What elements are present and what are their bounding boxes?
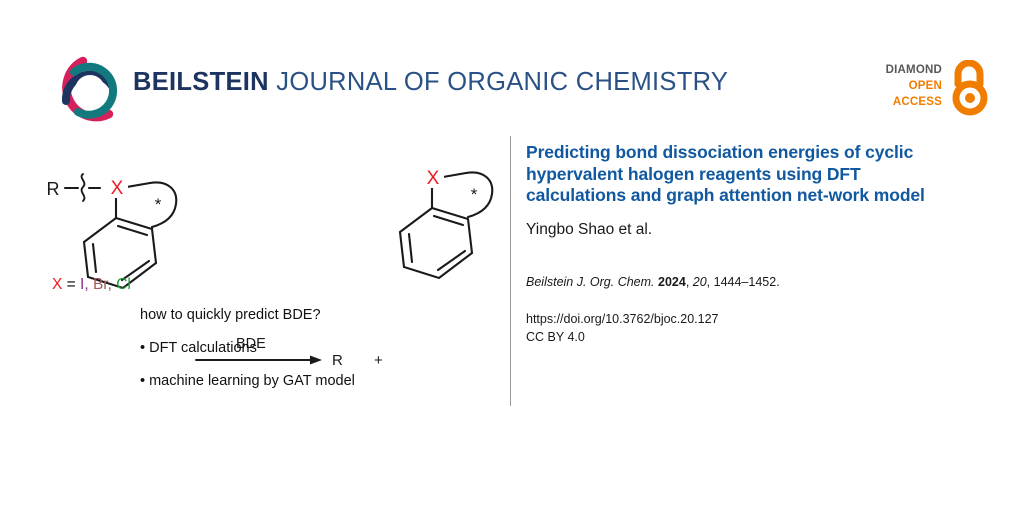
panel-divider [510,136,511,406]
notes-bullet-dft: • DFT calculations [140,341,480,357]
article-citation: Beilstein J. Org. Chem. 2024, 20, 1444–1… [526,275,956,290]
article-doi-link[interactable]: https://doi.org/10.3762/bjoc.20.127 [526,310,956,328]
article-license: CC BY 4.0 [526,328,956,346]
legend-bromine: Br [93,276,108,293]
article-title: Predicting bond dissociation energies of… [526,142,956,207]
article-info-panel: Predicting bond dissociation energies of… [526,142,956,346]
reactant-radical-asterisk: * [155,195,162,214]
legend-x-symbol: X [52,276,62,293]
citation-year: 2024 [658,275,686,289]
citation-volume: 20 [693,275,707,289]
legend-equals: = [62,276,80,293]
citation-comma-2: , [707,275,714,289]
legend-chlorine: Cl [116,276,131,293]
article-authors: Yingbo Shao et al. [526,221,956,240]
open-access-lock-icon [950,60,990,116]
open-access-diamond-label: DIAMOND [866,62,942,78]
legend-sep-1: , [84,276,93,293]
notes-bullet-ml: • machine learning by GAT model [140,374,480,390]
product-x-atom-label: X [427,168,440,189]
journal-title: BEILSTEIN JOURNAL OF ORGANIC CHEMISTRY [133,70,728,96]
article-doi-block: https://doi.org/10.3762/bjoc.20.127 CC B… [526,310,956,346]
citation-journal: Beilstein J. Org. Chem. [526,275,655,289]
notes-question: how to quickly predict BDE? [140,308,480,324]
journal-title-bold: BEILSTEIN [133,68,269,96]
open-access-access-label: ACCESS [866,94,942,110]
open-access-open-label: OPEN [866,78,942,94]
beilstein-swirl-logo-icon [52,52,128,128]
halogen-legend: X = I, Br, Cl [52,277,131,293]
citation-comma-1: , [686,275,693,289]
reactant-r-label: R [47,179,60,199]
open-access-labels: DIAMOND OPEN ACCESS [866,62,942,110]
product-radical-asterisk: * [471,185,478,204]
citation-pages: 1444–1452. [714,275,780,289]
legend-sep-2: , [108,276,117,293]
reactant-x-atom-label: X [111,178,124,199]
open-access-badge: DIAMOND OPEN ACCESS [866,60,991,122]
summary-notes: how to quickly predict BDE? • DFT calcul… [140,308,480,407]
journal-title-rest: JOURNAL OF ORGANIC CHEMISTRY [269,68,728,96]
page-header: BEILSTEIN JOURNAL OF ORGANIC CHEMISTRY D… [0,0,1024,130]
